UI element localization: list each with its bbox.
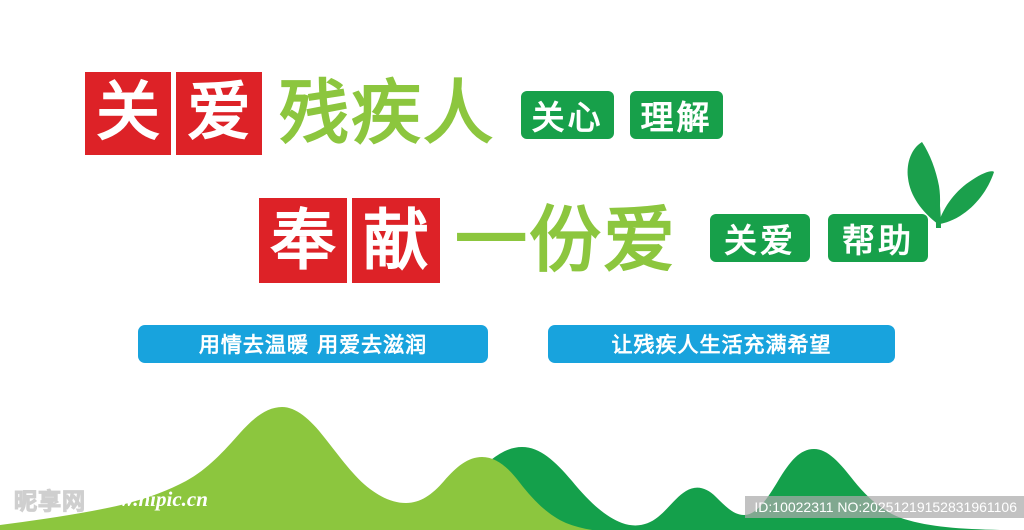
headline-line-1: 关 爱 残疾人 [85,72,495,155]
badge-row-1: 关心 理解 [521,91,723,139]
watermark-brand: 昵享网 [14,482,86,516]
slogan-bar-right: 让残疾人生活充满希望 [548,325,895,363]
poster-canvas: 关 爱 残疾人 关心 理解 奉 献 一份爱 关爱 帮助 用情去温暖 用爱去滋润 … [0,0,1024,530]
leaf-right-icon [938,171,994,224]
badge-lijie[interactable]: 理解 [630,91,723,139]
image-id-strip: ID:10022311 NO:20251219152831961106 [745,496,1024,518]
badge-guanai[interactable]: 关爱 [710,214,810,262]
badge-bangzhu[interactable]: 帮助 [828,214,928,262]
badge-row-2: 关爱 帮助 [710,214,928,262]
badge-guanxin[interactable]: 关心 [521,91,614,139]
redbox-char-3: 奉 [259,198,347,283]
headline-line-2: 奉 献 一份爱 [259,198,677,283]
watermark: 昵享网 www.nipic.cn [14,482,208,516]
leaf-left-icon [908,142,940,224]
redbox-char-1: 关 [85,72,171,155]
headline-line-2-green-text: 一份爱 [455,198,677,283]
redbox-char-2: 爱 [176,72,262,155]
watermark-url: www.nipic.cn [92,487,208,512]
headline-line-1-green-text: 残疾人 [279,72,495,155]
redbox-char-4: 献 [352,198,440,283]
slogan-bar-left: 用情去温暖 用爱去滋润 [138,325,488,363]
